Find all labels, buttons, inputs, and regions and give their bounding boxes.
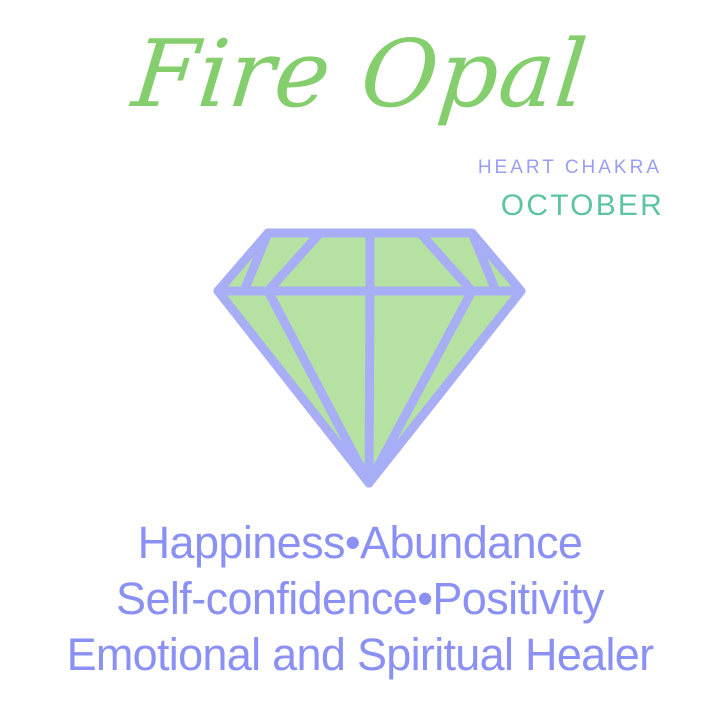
diamond-gem-icon bbox=[196, 220, 544, 500]
gem-illustration bbox=[196, 220, 544, 500]
month-label: OCTOBER bbox=[501, 189, 664, 223]
keyword-block: Happiness•Abundance Self-confidence•Posi… bbox=[0, 520, 720, 677]
gemstone-poster: Fire Opal HEART CHAKRA OCTOBER bbox=[0, 0, 720, 720]
keyword-line-2: Self-confidence•Positivity bbox=[0, 576, 720, 621]
page-title: Fire Opal bbox=[0, 26, 720, 124]
keyword-line-3: Emotional and Spiritual Healer bbox=[0, 632, 720, 677]
gem-pavilion-center-line bbox=[369, 291, 370, 483]
chakra-label: HEART CHAKRA bbox=[478, 157, 662, 179]
keyword-line-1: Happiness•Abundance bbox=[0, 520, 720, 565]
